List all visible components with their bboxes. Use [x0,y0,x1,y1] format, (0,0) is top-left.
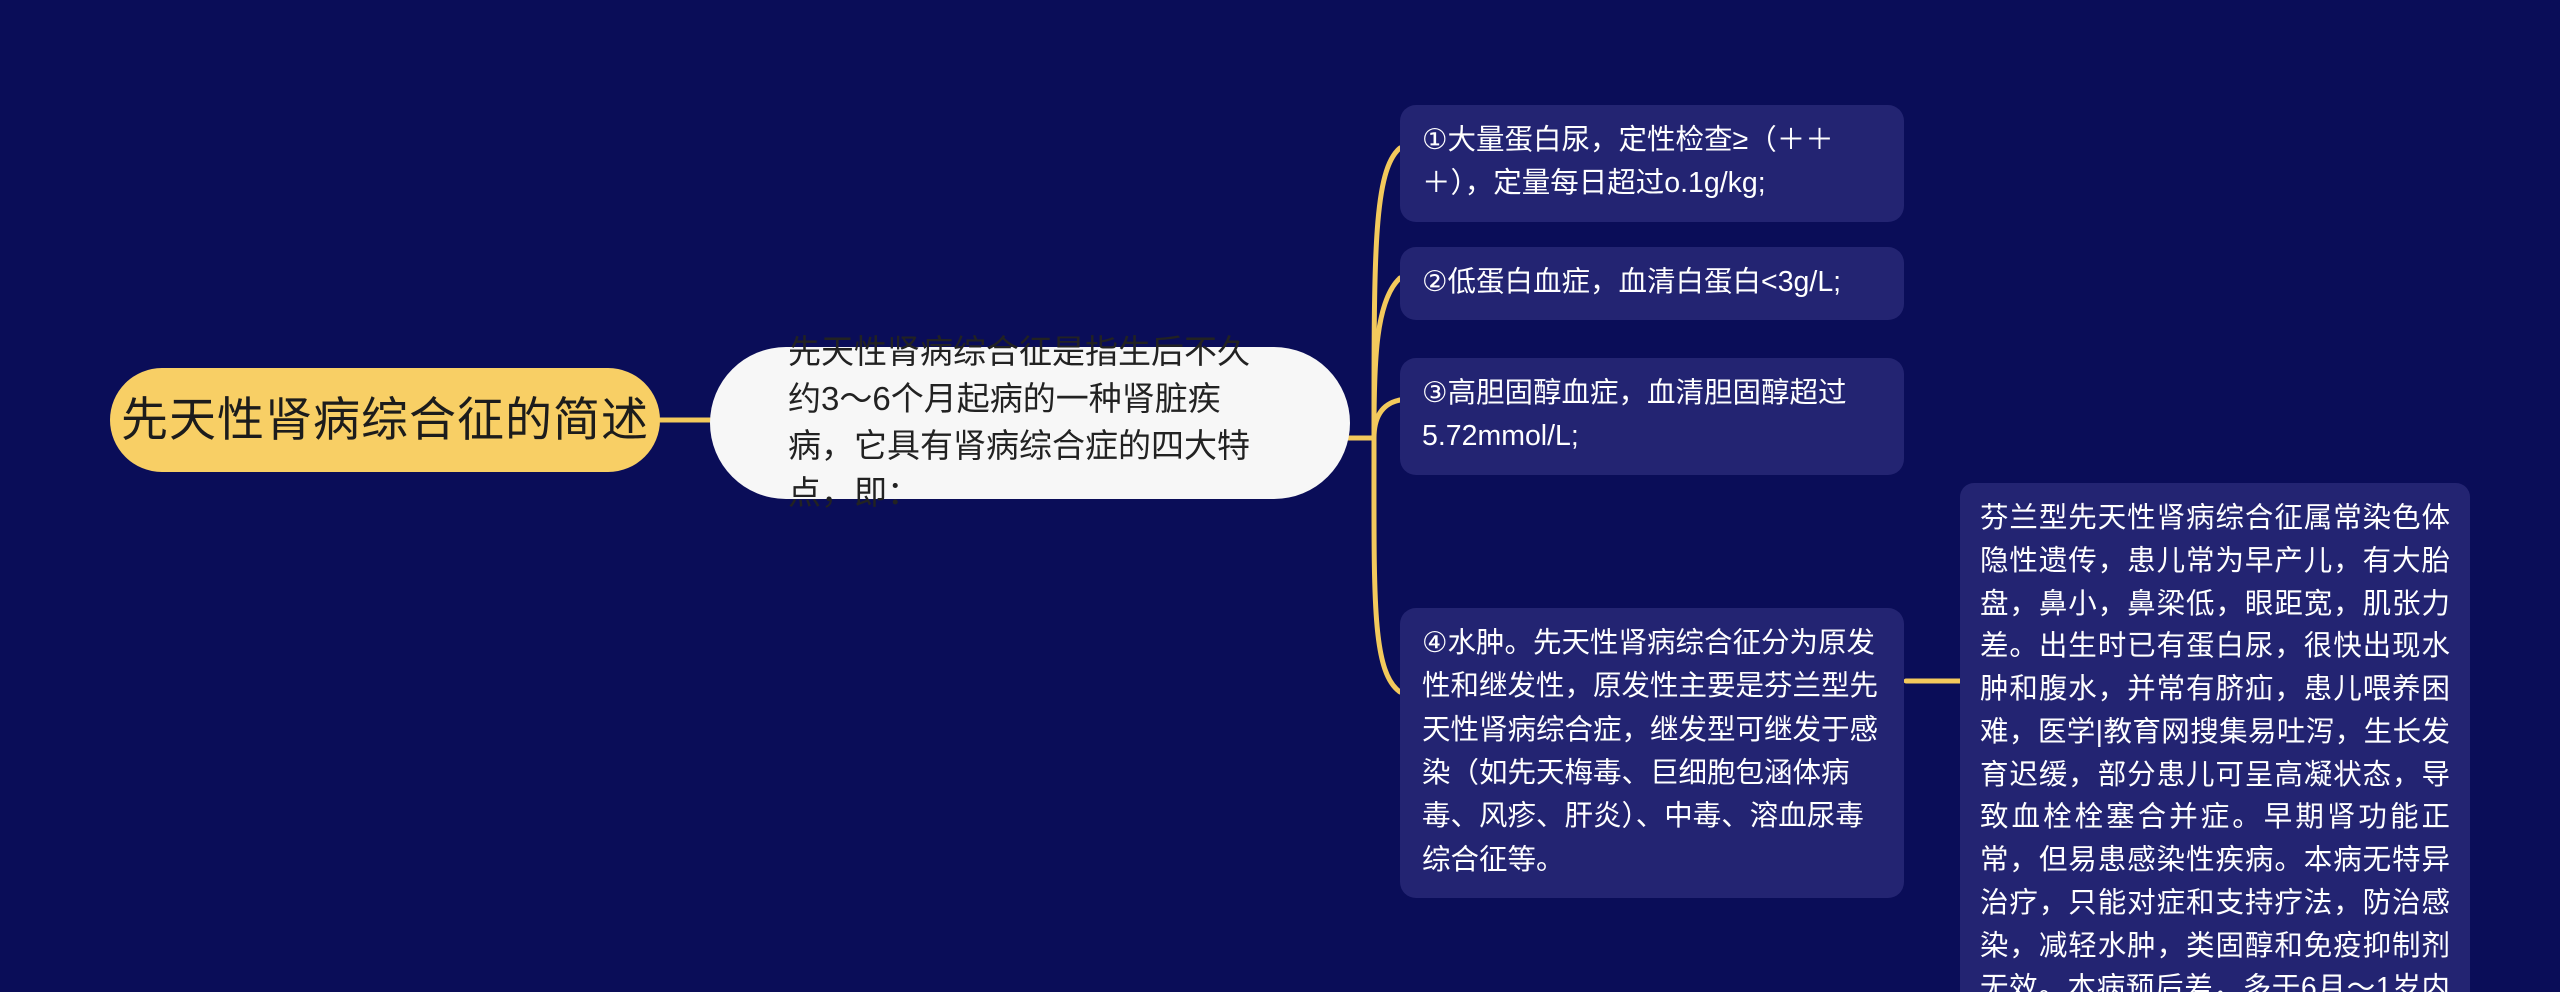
root-node-label: 先天性肾病综合征的简述 [121,393,649,447]
leaf-node-proteinuria[interactable]: ①大量蛋白尿，定性检查≥（＋＋＋），定量每日超过o.1g/kg; [1400,105,1904,222]
detail-node-label: 芬兰型先天性肾病综合征属常染色体隐性遗传，患儿常为早产儿，有大胎盘，鼻小，鼻梁低… [1980,497,2450,992]
level1-node-overview[interactable]: 先天性肾病综合征是指生后不久约3～6个月起病的一种肾脏疾病，它具有肾病综合症的四… [710,347,1350,499]
leaf-node-label: ①大量蛋白尿，定性检查≥（＋＋＋），定量每日超过o.1g/kg; [1422,119,1882,206]
leaf-node-label: ③高胆固醇血症，血清胆固醇超过5.72mmol/L; [1422,372,1882,459]
leaf-node-hypoalbuminemia[interactable]: ②低蛋白血症，血清白蛋白<3g/L; [1400,247,1904,320]
leaf-node-hypercholesterolemia[interactable]: ③高胆固醇血症，血清胆固醇超过5.72mmol/L; [1400,358,1904,475]
root-node[interactable]: 先天性肾病综合征的简述 [110,368,660,472]
level1-node-label: 先天性肾病综合征是指生后不久约3～6个月起病的一种肾脏疾病，它具有肾病综合症的四… [788,329,1278,516]
connector-branch-4 [1374,446,1400,692]
connector-branch-1 [1374,148,1400,430]
leaf-node-label: ④水肿。先天性肾病综合征分为原发性和继发性，原发性主要是芬兰型先天性肾病综合症，… [1422,622,1882,882]
leaf-node-label: ②低蛋白血症，血清白蛋白<3g/L; [1422,261,1882,304]
mindmap-canvas: 先天性肾病综合征的简述 先天性肾病综合征是指生后不久约3～6个月起病的一种肾脏疾… [0,0,2560,992]
connector-branch-3 [1374,400,1400,438]
leaf-node-edema[interactable]: ④水肿。先天性肾病综合征分为原发性和继发性，原发性主要是芬兰型先天性肾病综合症，… [1400,608,1904,898]
detail-node-finnish-type[interactable]: 芬兰型先天性肾病综合征属常染色体隐性遗传，患儿常为早产儿，有大胎盘，鼻小，鼻梁低… [1960,483,2470,992]
connector-branch-2 [1374,278,1400,430]
